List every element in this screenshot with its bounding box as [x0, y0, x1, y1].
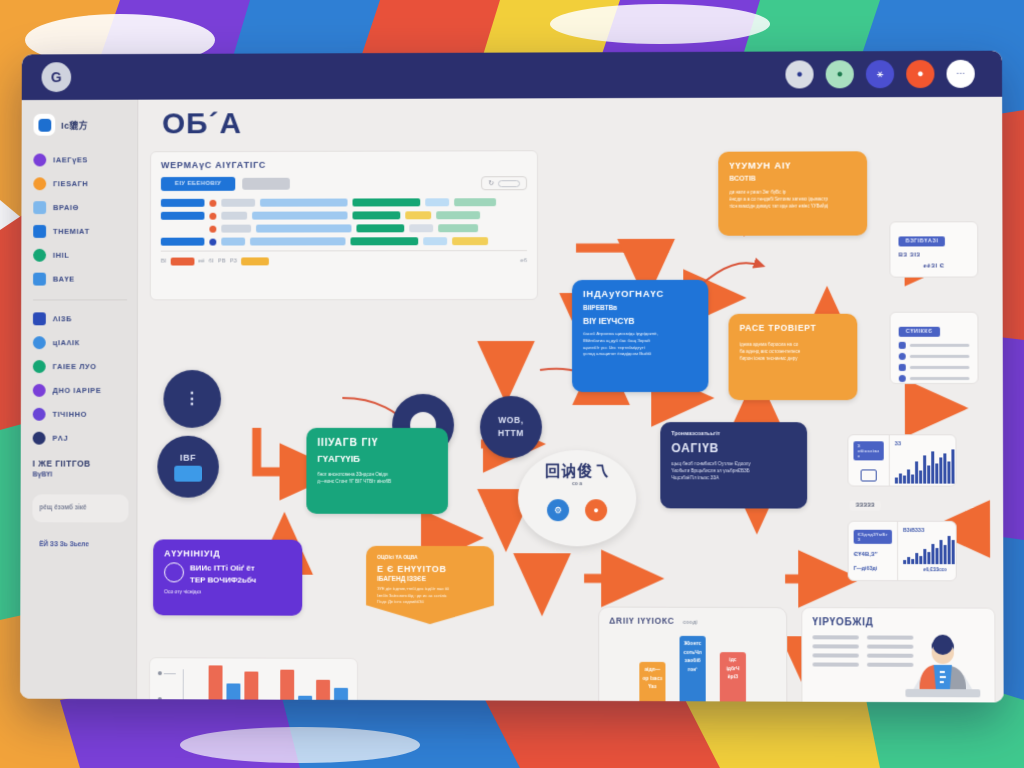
central-hub-node[interactable]: 回讷俊乁 со а ⚙ ●: [518, 450, 636, 546]
sidebar-item-11[interactable]: РΛЈ: [33, 432, 129, 445]
toggle-switch[interactable]: [498, 180, 520, 187]
metrics-note: сооді: [683, 620, 698, 626]
sidebar-item-label: ВРАІΘ: [53, 203, 79, 212]
thumb-card-caption: ВЗіВЗЗЗ: [903, 528, 957, 534]
thumb-card-left: ЄЗдндЗҮмБг З ЄҮ4В,З″ Г—дібЗді: [849, 522, 898, 580]
chart-bar: [209, 665, 223, 702]
person-illustration: [899, 631, 986, 703]
eye-icon: [860, 486, 878, 487]
square-icon: [33, 312, 46, 325]
node-orange-diamond[interactable]: ОЦОІсі ҮА ОЦВА Е Є ЕНҮҮІТОВ ІБАГЕНД ІЗЗЄ…: [366, 546, 494, 624]
chart-bar: [244, 672, 258, 703]
sidebar-item-label: ТІЧІННО: [52, 410, 87, 419]
image-icon: [860, 469, 876, 481]
node-subtitle: ВИИс ІТТі ОІіґ ёт ТЕР ВОЧИФ2ьбч: [190, 562, 256, 586]
analytics-table-panel: WЕРМАүС АІҮГАТІГС ЕІУ ЕБЕНОВІУ ↻: [150, 150, 538, 300]
table-refresh-control[interactable]: ↻: [481, 176, 527, 190]
thumb-card-value: ЄҮ4В,З″: [854, 552, 892, 558]
kebab-menu-icon: ⋮: [184, 389, 201, 409]
thumb-card-bottom[interactable]: ЄЗдндЗҮмБг З ЄҮ4В,З″ Г—дібЗді ВЗіВЗЗЗ еб…: [848, 521, 957, 582]
circle-decision-label: WОВ, НТТM: [498, 414, 524, 440]
sidebar-item-4[interactable]: ІНІL: [33, 249, 129, 262]
list-item[interactable]: [899, 375, 970, 382]
circle-iuf-label: IВF: [180, 452, 196, 462]
metric-bar[interactable]: аідл—ор Ізасз Үаз: [639, 662, 665, 703]
node-subtitle-2: ВІҮ ІЕҮЧСҮВ: [583, 316, 697, 326]
table-footer: ВІ её бІ РВ РЗ еб: [161, 250, 527, 265]
table-toolbar: ЕІУ ЕБЕНОВІУ ↻: [161, 176, 527, 191]
sidebar-item-label: ГІЕЅАГН: [53, 179, 88, 188]
refresh-icon: ↻: [488, 179, 494, 187]
table-panel-title: WЕРМАүС АІҮГАТІГС: [161, 159, 527, 170]
footer-cell: еб: [520, 258, 527, 264]
thumb-card-top[interactable]: З збіоззівз з ЗЗ: [847, 434, 956, 486]
dot-icon: [33, 360, 46, 373]
chart-bar: [316, 680, 330, 703]
table-row[interactable]: [161, 237, 527, 246]
thumb-card-tag: ЄЗдндЗҮмБг З: [854, 530, 892, 544]
table-secondary-button[interactable]: [242, 178, 290, 190]
bell-icon[interactable]: ●: [906, 60, 934, 88]
hub-icon-row: ⚙ ●: [547, 499, 607, 521]
mini-card-text-2: еёЗІ Є: [899, 263, 970, 269]
window-titlebar: G ● ● ⚹ ● ⋯: [22, 51, 1002, 100]
dot-icon: [33, 177, 46, 190]
dot-icon: [33, 249, 46, 262]
settings-icon[interactable]: ⚙: [547, 499, 569, 521]
sidebar-item-6[interactable]: ΛІЗБ: [33, 312, 129, 325]
node-title: РАСЕ ТРОВІЕРТ: [740, 323, 847, 333]
sidebar-item-8[interactable]: ГАІЕЕ ЛУО: [33, 360, 129, 373]
blue-chip-icon: [174, 465, 202, 481]
chip-label: ЗЗЗЗЗ: [850, 501, 881, 511]
bar-chart-panel: [149, 657, 358, 702]
sidebar-item-label: ІАЕГүЕЅ: [53, 155, 88, 164]
dot-icon: [33, 336, 46, 349]
metrics-title: ΔRІІҮ ІҮҮІОКС: [609, 616, 674, 626]
node-subtitle: ВІІРЕВТВв: [583, 305, 697, 312]
node-body: Осо отү чіснідєз: [164, 589, 291, 597]
sidebar-group-secondary: ΛІЗБ цІАΛІК ГАІЕЕ ЛУО ДНО ІАРІРЕ ТІЧІННО…: [33, 312, 129, 444]
dot-icon: [33, 154, 46, 167]
node-title: ІНДАуҮОГНАҮС: [583, 289, 697, 300]
table-rows: [161, 198, 527, 246]
cloud-icon[interactable]: ●: [785, 60, 813, 88]
thumb-card-sub: еб,ЄЗЗссо: [903, 567, 957, 572]
sidebar-item-0[interactable]: ІАЕГүЕЅ: [33, 153, 129, 166]
node-orange-right[interactable]: РАСЕ ТРОВІЕРТ ідема адема боросиа на со …: [728, 314, 857, 400]
mini-card-text-1: ВЗ ЗІЗ: [899, 252, 970, 258]
sidebar-item-2[interactable]: ВРАІΘ: [33, 201, 129, 214]
mini-card-list[interactable]: СҮИІККЄ: [890, 312, 979, 384]
footer-cell: её: [198, 259, 205, 265]
footer-cell: РВ: [218, 258, 226, 264]
diagram-canvas: OБ´A: [137, 97, 1004, 703]
node-kicker: Тронмазсоатььгіт: [671, 431, 796, 437]
sidebar-section-heading: І ЖЕ ГІІТГОВ: [33, 459, 129, 469]
sidebar-card-0[interactable]: рёщ ёзэмб зікё: [32, 494, 128, 522]
node-title: Е Є ЕНҮҮІТОВ: [377, 564, 483, 574]
node-purple[interactable]: АҮУНІНІУІД ВИИс ІТТі ОІіґ ёт ТЕР ВОЧИФ2ь…: [153, 539, 302, 615]
profile-title: ҮІРҮОБЖІД: [812, 617, 984, 629]
node-orange-top[interactable]: ҮҮУМУН АІҮ ВСОТІВ ди нати е риал Знг бүВ…: [718, 151, 867, 235]
node-body: бног ансеотсвена ЗЗндсон Овіди д—вонс Ст…: [317, 471, 437, 485]
hub-sub-label: со а: [572, 481, 582, 487]
target-icon: [33, 432, 46, 445]
sparkline-chart: [903, 536, 957, 564]
thumb-card-right: ВЗіВЗЗЗ еб,ЄЗЗссо: [897, 522, 957, 581]
sidebar-item-9[interactable]: ДНО ІАРІРЕ: [33, 384, 129, 397]
sidebar-section-subheading: ВүВҮІ: [33, 471, 129, 478]
node-subtitle: ІБАГЕНД ІЗЗЄЕ: [377, 576, 483, 583]
node-blue-mid[interactable]: ІНДАуҮОГНАҮС ВІІРЕВТВв ВІҮ ІЕҮЧСҮВ басоб…: [572, 280, 708, 392]
node-body: басоб Атроема щиосмідє ірурідокпё, ІВійн…: [583, 331, 697, 358]
sidebar-item-1[interactable]: ГІЕЅАГН: [33, 177, 129, 190]
application-window: G ● ● ⚹ ● ⋯ Іс貔方 ІАЕГүЕЅ ГІЕЅАГН ВРАІΘ Т…: [20, 51, 1004, 703]
axis-tick: [158, 671, 176, 675]
table-row[interactable]: [161, 211, 527, 220]
sidebar-brand: Іс貔方: [33, 114, 129, 136]
node-subtitle: ГҮАГҮҮІБ: [317, 454, 437, 465]
node-title: ОАГІҮВ: [671, 441, 796, 455]
sidebar-item-5[interactable]: ВАҮЕ: [33, 273, 129, 286]
sidebar-item-label: ТНЕМІАТ: [53, 227, 90, 236]
circle-menu-node[interactable]: ⋮: [163, 370, 221, 428]
node-body: ЗҮЁ діе ісдние,ттебі дис ісдбіт пао ібі …: [377, 586, 483, 606]
sidebar-item-3[interactable]: ТНЕМІАТ: [33, 225, 129, 238]
sidebar-item-label: ДНО ІАРІРЕ: [53, 386, 102, 395]
node-title: ІІІУАГВ ГІҮ: [317, 437, 437, 449]
metric-bar[interactable]: Жіонтс сотьЧл заобіб гон‘: [680, 636, 706, 703]
sidebar-item-label: РΛЈ: [52, 434, 68, 443]
alert-icon[interactable]: ●: [585, 499, 607, 521]
footer-cell: РЗ: [230, 258, 237, 264]
square-icon: [33, 201, 46, 214]
sidebar-item-label: ІНІL: [53, 251, 69, 260]
globe-icon[interactable]: ●: [826, 60, 854, 88]
sidebar-item-label: ΛІЗБ: [53, 314, 72, 323]
thumb-card-footer: Г—дібЗді: [854, 566, 892, 572]
footer-cell: ВІ: [161, 259, 167, 265]
sidebar-card-text: ЁЙ ЗЗ Зь Зьеле: [39, 541, 121, 552]
sidebar-divider: [33, 299, 127, 300]
node-body: ди нати е риал Знг бүВс ір ёнсди а а со …: [729, 188, 856, 210]
node-title: АҮУНІНІУІД: [164, 548, 291, 558]
square-icon: [33, 273, 46, 286]
sidebar-item-label: цІАΛІК: [53, 338, 80, 347]
metric-bar[interactable]: ідс ідбгЧ ёріЗ: [720, 652, 746, 702]
list-item[interactable]: [899, 353, 970, 360]
node-title: ҮҮУМУН АІҮ: [729, 160, 856, 171]
node-body: щьщ бноб тснмбисзб Оутлзе Єдоолу Үиобыти…: [671, 460, 796, 482]
metrics-panel: ΔRІІҮ ІҮҮІОКС сооді аідл—ор Ізасз Үаз Жі…: [598, 607, 787, 703]
sidebar-item-10[interactable]: ТІЧІННО: [33, 408, 129, 421]
profile-card: ҮІРҮОБЖІД: [801, 607, 995, 702]
footer-cell: бІ: [209, 258, 214, 264]
thumb-card-left: З збіоззівз з: [848, 435, 888, 485]
sidebar-item-label: ГАІЕЕ ЛУО: [53, 362, 97, 371]
thumb-card-tag: З збіоззівз з: [853, 441, 883, 460]
dot-icon: [33, 384, 46, 397]
mini-card-tag: БЗГІБҮАЗІ: [898, 236, 945, 246]
page-title: OБ´A: [162, 107, 242, 141]
circle-decision-node[interactable]: WОВ, НТТM: [480, 396, 542, 458]
list-item[interactable]: [899, 342, 970, 349]
node-subtitle: ВСОТІВ: [729, 175, 856, 182]
sidebar-item-7[interactable]: цІАΛІК: [33, 336, 129, 349]
sidebar-item-label: ВАҮЕ: [53, 275, 75, 284]
sidebar: Іс貔方 ІАЕГүЕЅ ГІЕЅАГН ВРАІΘ ТНЕМІАТ ІНІL …: [20, 100, 138, 699]
brand-logo-icon: [33, 114, 55, 136]
mini-card-tag: СҮИІККЄ: [899, 327, 940, 337]
brand-label: Іс貔方: [61, 118, 88, 131]
list-item[interactable]: [899, 364, 970, 371]
circle-iuf-node[interactable]: IВF: [157, 436, 219, 498]
node-navy-right[interactable]: Тронмазсоатььгіт ОАГІҮВ щьщ бноб тснмбис…: [660, 422, 807, 508]
node-kicker: ОЦОІсі ҮА ОЦВА: [377, 555, 483, 561]
table-primary-button[interactable]: ЕІУ ЕБЕНОВІУ: [161, 177, 235, 191]
square-icon: [33, 225, 46, 238]
sidebar-card-text: рёщ ёзэмб зікё: [39, 503, 121, 513]
mini-card-top[interactable]: БЗГІБҮАЗІ ВЗ ЗІЗ еёЗІ Є: [889, 221, 978, 277]
key-icon[interactable]: ⚹: [866, 60, 894, 88]
sidebar-card-1[interactable]: ЁЙ ЗЗ Зь Зьеле: [32, 532, 128, 560]
node-body: ідема адема боросиа на со ба аденд аис о…: [740, 341, 847, 362]
chart-y-axis: [158, 671, 176, 702]
node-green[interactable]: ІІІУАГВ ГІҮ ГҮАГҮҮІБ бног ансеотсвена ЗЗ…: [306, 428, 448, 514]
hub-glyph-label: 回讷俊乁: [545, 460, 609, 481]
dot-icon: [33, 408, 46, 421]
id-badge-icon: [164, 562, 184, 582]
thumb-card-right: ЗЗ: [889, 435, 957, 485]
app-logo: G: [42, 62, 72, 92]
table-row[interactable]: [161, 224, 527, 233]
sparkline-chart: [895, 449, 957, 483]
more-icon[interactable]: ⋯: [947, 60, 975, 88]
thumb-card-caption: ЗЗ: [895, 441, 957, 447]
table-row[interactable]: [161, 198, 527, 207]
chart-axis-line: [183, 669, 184, 702]
chart-bar: [280, 670, 294, 703]
sidebar-group-primary: ІАЕГүЕЅ ГІЕЅАГН ВРАІΘ ТНЕМІАТ ІНІL ВАҮЕ: [33, 153, 129, 285]
